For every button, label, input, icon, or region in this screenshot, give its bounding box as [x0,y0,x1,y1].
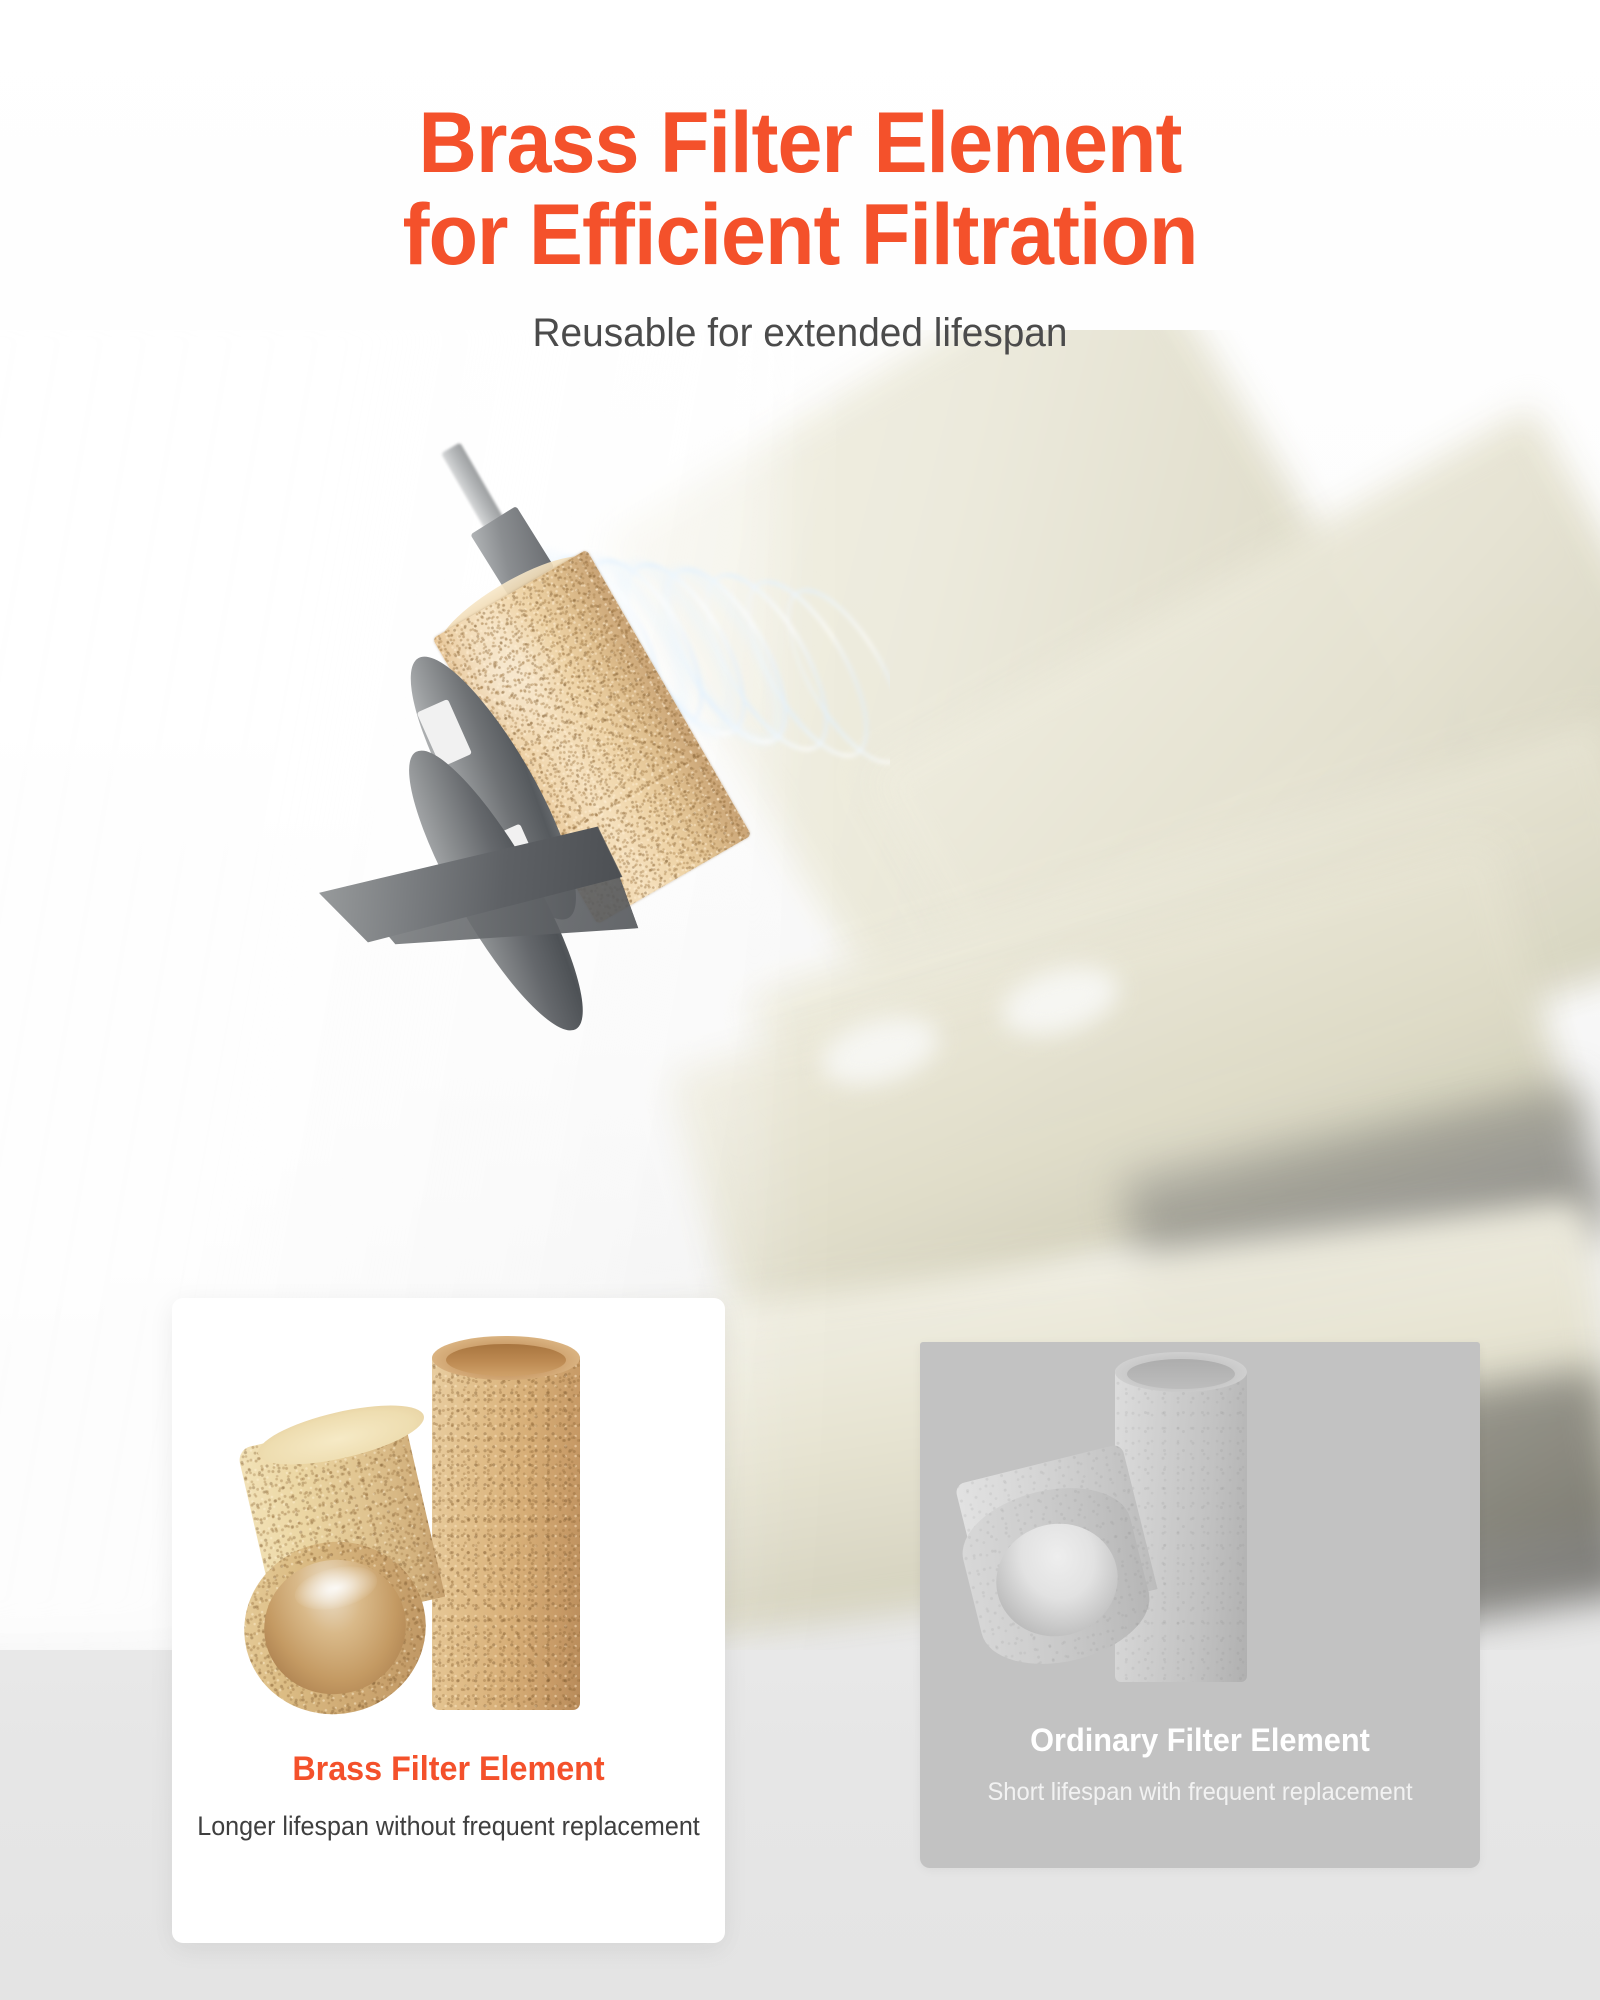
ordinary-filter-photo [920,1342,1480,1712]
comparison-card-brass[interactable]: Brass Filter Element Longer lifespan wit… [172,1298,725,1943]
ordinary-cylinder-back-bore [1127,1359,1235,1389]
brass-description: Longer lifespan without frequent replace… [191,1808,705,1844]
brass-filter-photo [172,1316,725,1736]
comparison-card-ordinary[interactable]: Ordinary Filter Element Short lifespan w… [920,1342,1480,1868]
page-subtitle: Reusable for extended lifespan [24,309,1576,357]
page-title-line-1: Brass Filter Element [48,95,1552,191]
brass-cylinder-back [432,1352,580,1710]
header: Brass Filter Element for Efficient Filtr… [0,0,1600,357]
ordinary-title: Ordinary Filter Element [931,1720,1469,1760]
ordinary-description: Short lifespan with frequent replacement [934,1776,1466,1808]
brass-caption: Brass Filter Element Longer lifespan wit… [172,1748,725,1844]
page-title-line-2: for Efficient Filtration [48,187,1552,283]
product-infographic-page: Brass Filter Element for Efficient Filtr… [0,0,1600,2000]
brass-title: Brass Filter Element [186,1748,711,1790]
ordinary-caption: Ordinary Filter Element Short lifespan w… [920,1720,1480,1808]
brass-cylinder-back-bore [446,1344,566,1376]
